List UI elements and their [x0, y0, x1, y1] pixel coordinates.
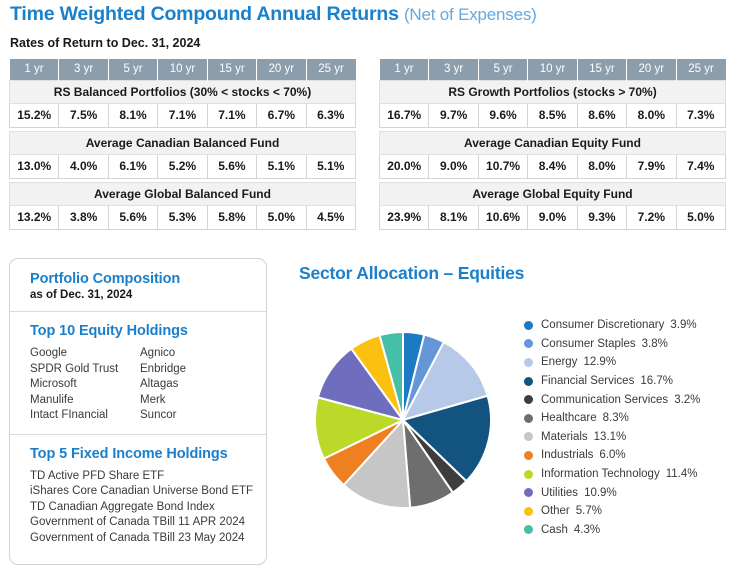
legend-item: Financial Services16.7%	[524, 372, 734, 391]
legend-item: Information Technology11.4%	[524, 465, 734, 484]
fixed-income-item: Government of Canada TBill 11 APR 2024	[30, 515, 266, 531]
cell-value: 10.6%	[478, 205, 527, 229]
column-header-5: 15 yr	[207, 59, 256, 80]
legend-color-swatch-icon	[524, 525, 533, 534]
fixed-income-item: Government of Canada TBill 23 May 2024	[30, 531, 266, 547]
equity-holding-item: Google	[30, 346, 140, 362]
section-label: RS Balanced Portfolios (30% < stocks < 7…	[10, 80, 356, 103]
legend-value: 6.0%	[599, 449, 625, 461]
column-header-6: 20 yr	[257, 59, 306, 80]
column-header-1: 1 yr	[10, 59, 59, 80]
page-subtitle: Rates of Return to Dec. 31, 2024	[10, 36, 200, 50]
equity-holding-item: Manulife	[30, 393, 140, 409]
cell-value: 15.2%	[10, 103, 59, 127]
table-section-row: Average Global Equity Fund	[380, 182, 726, 205]
legend-item: Communication Services3.2%	[524, 390, 734, 409]
report-page: Time Weighted Compound Annual Returns (N…	[0, 0, 738, 571]
cell-value: 13.2%	[10, 205, 59, 229]
cell-value: 8.0%	[577, 154, 626, 178]
legend-color-swatch-icon	[524, 470, 533, 479]
cell-value: 7.4%	[676, 154, 725, 178]
cell-value: 9.3%	[577, 205, 626, 229]
cell-value: 5.2%	[158, 154, 207, 178]
table-section-row: Average Global Balanced Fund	[10, 182, 356, 205]
cell-value: 7.2%	[627, 205, 676, 229]
equity-holding-item: Suncor	[140, 408, 250, 424]
legend-label: Other	[541, 505, 570, 517]
cell-value: 5.1%	[257, 154, 306, 178]
legend-color-swatch-icon	[524, 488, 533, 497]
table-row: 13.2%3.8%5.6%5.3%5.8%5.0%4.5%	[10, 205, 356, 229]
table-row: 16.7%9.7%9.6%8.5%8.6%8.0%7.3%	[380, 103, 726, 127]
legend-color-swatch-icon	[524, 395, 533, 404]
fixed-income-item: iShares Core Canadian Universe Bond ETF	[30, 484, 266, 500]
column-header-7: 25 yr	[306, 59, 355, 80]
legend-label: Energy	[541, 356, 577, 368]
legend-value: 5.7%	[576, 505, 602, 517]
legend-item: Healthcare8.3%	[524, 409, 734, 428]
cell-value: 9.6%	[478, 103, 527, 127]
sector-allocation-pie-chart	[313, 330, 493, 510]
table-header-row: 1 yr3 yr5 yr10 yr15 yr20 yr25 yr	[10, 59, 356, 80]
equity-holdings-heading: Top 10 Equity Holdings	[30, 323, 266, 339]
cell-value: 8.4%	[528, 154, 577, 178]
section-label: Average Canadian Equity Fund	[380, 131, 726, 154]
column-header-3: 5 yr	[108, 59, 157, 80]
cell-value: 7.1%	[207, 103, 256, 127]
cell-value: 4.0%	[59, 154, 108, 178]
table-row: 15.2%7.5%8.1%7.1%7.1%6.7%6.3%	[10, 103, 356, 127]
equity-holdings-section: Top 10 Equity Holdings GoogleSPDR Gold T…	[10, 312, 266, 434]
equity-holding-item: Intact FInancial	[30, 408, 140, 424]
table-row: 20.0%9.0%10.7%8.4%8.0%7.9%7.4%	[380, 154, 726, 178]
returns-table-balanced: 1 yr3 yr5 yr10 yr15 yr20 yr25 yrRS Balan…	[9, 59, 356, 230]
legend-value: 3.8%	[642, 338, 668, 350]
legend-color-swatch-icon	[524, 358, 533, 367]
equity-holdings-column-left: GoogleSPDR Gold TrustMicrosoftManulifeIn…	[30, 346, 140, 424]
legend-color-swatch-icon	[524, 321, 533, 330]
cell-value: 13.0%	[10, 154, 59, 178]
equity-holdings-column-right: AgnicoEnbridgeAltagasMerkSuncor	[140, 346, 250, 424]
legend-color-swatch-icon	[524, 432, 533, 441]
legend-color-swatch-icon	[524, 377, 533, 386]
cell-value: 5.1%	[306, 154, 355, 178]
cell-value: 5.8%	[207, 205, 256, 229]
column-header-4: 10 yr	[158, 59, 207, 80]
legend-color-swatch-icon	[524, 414, 533, 423]
equity-holding-item: Altagas	[140, 377, 250, 393]
cell-value: 8.1%	[429, 205, 478, 229]
legend-item: Industrials6.0%	[524, 446, 734, 465]
legend-item: Materials13.1%	[524, 428, 734, 447]
portfolio-composition-heading: Portfolio Composition	[30, 271, 266, 287]
fixed-income-holdings-section: Top 5 Fixed Income Holdings TD Active PF…	[10, 435, 266, 557]
legend-item: Utilities10.9%	[524, 483, 734, 502]
legend-value: 8.3%	[603, 412, 629, 424]
column-header-2: 3 yr	[59, 59, 108, 80]
section-label: Average Canadian Balanced Fund	[10, 131, 356, 154]
cell-value: 8.6%	[577, 103, 626, 127]
cell-value: 9.0%	[528, 205, 577, 229]
column-header-3: 5 yr	[478, 59, 527, 80]
legend-label: Financial Services	[541, 375, 634, 387]
section-label: Average Global Equity Fund	[380, 182, 726, 205]
portfolio-composition-card: Portfolio Composition as of Dec. 31, 202…	[9, 258, 267, 565]
cell-value: 5.0%	[676, 205, 725, 229]
legend-item: Consumer Discretionary3.9%	[524, 316, 734, 335]
returns-table-growth: 1 yr3 yr5 yr10 yr15 yr20 yr25 yrRS Growt…	[379, 59, 726, 230]
cell-value: 6.3%	[306, 103, 355, 127]
cell-value: 8.0%	[627, 103, 676, 127]
table-header-row: 1 yr3 yr5 yr10 yr15 yr20 yr25 yr	[380, 59, 726, 80]
section-label: Average Global Balanced Fund	[10, 182, 356, 205]
cell-value: 7.9%	[627, 154, 676, 178]
cell-value: 5.3%	[158, 205, 207, 229]
cell-value: 5.0%	[257, 205, 306, 229]
cell-value: 7.3%	[676, 103, 725, 127]
cell-value: 7.1%	[158, 103, 207, 127]
equity-holding-item: Agnico	[140, 346, 250, 362]
legend-value: 3.2%	[674, 394, 700, 406]
cell-value: 10.7%	[478, 154, 527, 178]
column-header-1: 1 yr	[380, 59, 429, 80]
legend-label: Communication Services	[541, 394, 668, 406]
table-section-row: RS Growth Portfolios (stocks > 70%)	[380, 80, 726, 103]
equity-holding-item: SPDR Gold Trust	[30, 362, 140, 378]
legend-label: Materials	[541, 431, 588, 443]
legend-label: Cash	[541, 524, 568, 536]
fixed-income-item: TD Active PFD Share ETF	[30, 469, 266, 485]
legend-value: 4.3%	[574, 524, 600, 536]
legend-item: Cash4.3%	[524, 521, 734, 540]
page-title-main: Time Weighted Compound Annual Returns	[10, 3, 399, 25]
legend-label: Consumer Discretionary	[541, 319, 664, 331]
cell-value: 5.6%	[108, 205, 157, 229]
legend-color-swatch-icon	[524, 507, 533, 516]
cell-value: 4.5%	[306, 205, 355, 229]
cell-value: 3.8%	[59, 205, 108, 229]
column-header-6: 20 yr	[627, 59, 676, 80]
legend-value: 16.7%	[640, 375, 673, 387]
portfolio-composition-header: Portfolio Composition as of Dec. 31, 202…	[10, 259, 266, 311]
cell-value: 7.5%	[59, 103, 108, 127]
pie-svg	[313, 330, 493, 510]
page-title: Time Weighted Compound Annual Returns (N…	[10, 3, 537, 26]
cell-value: 23.9%	[380, 205, 429, 229]
table-row: 23.9%8.1%10.6%9.0%9.3%7.2%5.0%	[380, 205, 726, 229]
cell-value: 20.0%	[380, 154, 429, 178]
legend-label: Consumer Staples	[541, 338, 636, 350]
legend-item: Consumer Staples3.8%	[524, 335, 734, 354]
cell-value: 5.6%	[207, 154, 256, 178]
portfolio-composition-asof: as of Dec. 31, 2024	[30, 289, 266, 301]
table-section-row: Average Canadian Balanced Fund	[10, 131, 356, 154]
sector-allocation-title: Sector Allocation – Equities	[299, 263, 524, 284]
table-section-row: Average Canadian Equity Fund	[380, 131, 726, 154]
equity-holding-item: Microsoft	[30, 377, 140, 393]
legend-value: 13.1%	[594, 431, 627, 443]
cell-value: 8.1%	[108, 103, 157, 127]
legend-value: 10.9%	[584, 487, 617, 499]
column-header-7: 25 yr	[676, 59, 725, 80]
page-title-sub: (Net of Expenses)	[404, 5, 537, 24]
legend-value: 11.4%	[666, 468, 698, 480]
equity-holding-item: Merk	[140, 393, 250, 409]
column-header-5: 15 yr	[577, 59, 626, 80]
table-row: 13.0%4.0%6.1%5.2%5.6%5.1%5.1%	[10, 154, 356, 178]
equity-holding-item: Enbridge	[140, 362, 250, 378]
fixed-income-item: TD Canadian Aggregate Bond Index	[30, 500, 266, 516]
section-label: RS Growth Portfolios (stocks > 70%)	[380, 80, 726, 103]
legend-label: Healthcare	[541, 412, 597, 424]
legend-color-swatch-icon	[524, 451, 533, 460]
legend-label: Information Technology	[541, 468, 660, 480]
cell-value: 6.7%	[257, 103, 306, 127]
cell-value: 16.7%	[380, 103, 429, 127]
fixed-income-heading: Top 5 Fixed Income Holdings	[30, 446, 266, 462]
cell-value: 6.1%	[108, 154, 157, 178]
table-section-row: RS Balanced Portfolios (30% < stocks < 7…	[10, 80, 356, 103]
fixed-income-list: TD Active PFD Share ETFiShares Core Cana…	[30, 469, 266, 547]
legend-item: Energy12.9%	[524, 353, 734, 372]
legend-item: Other5.7%	[524, 502, 734, 521]
legend-label: Industrials	[541, 449, 593, 461]
cell-value: 9.0%	[429, 154, 478, 178]
sector-allocation-legend: Consumer Discretionary3.9%Consumer Stapl…	[524, 316, 734, 539]
legend-value: 12.9%	[583, 356, 616, 368]
column-header-4: 10 yr	[528, 59, 577, 80]
cell-value: 9.7%	[429, 103, 478, 127]
legend-color-swatch-icon	[524, 339, 533, 348]
column-header-2: 3 yr	[429, 59, 478, 80]
legend-label: Utilities	[541, 487, 578, 499]
cell-value: 8.5%	[528, 103, 577, 127]
legend-value: 3.9%	[670, 319, 696, 331]
